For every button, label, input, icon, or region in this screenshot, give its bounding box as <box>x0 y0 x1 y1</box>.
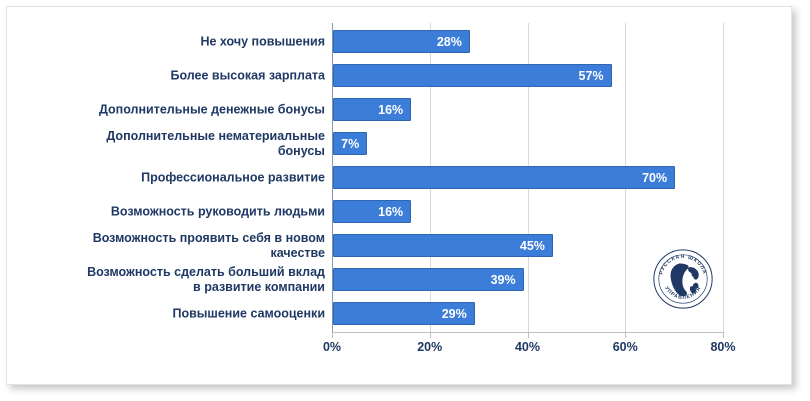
category-label: Более высокая зарплата <box>25 69 325 84</box>
category-label: Дополнительные денежные бонусы <box>25 103 325 118</box>
tick-mark <box>723 333 724 338</box>
category-label: Возможность сделать больший вклад в разв… <box>25 265 325 295</box>
bar[interactable]: 28% <box>333 30 470 53</box>
bar-row: Не хочу повышения28% <box>332 25 723 59</box>
bar-value-label: 16% <box>378 205 403 219</box>
bar[interactable]: 70% <box>333 166 675 189</box>
bar-row: Возможность руководить людьми16% <box>332 195 723 229</box>
bar[interactable]: 45% <box>333 234 553 257</box>
category-label: Профессиональное развитие <box>25 171 325 186</box>
bar-value-label: 7% <box>341 137 359 151</box>
russian-school-of-management-logo: РУССКАЯ ШКОЛА УПРАВЛЕНИЯ <box>652 248 714 310</box>
bar-value-label: 16% <box>378 103 403 117</box>
bar-row: Более высокая зарплата57% <box>332 59 723 93</box>
bar[interactable]: 16% <box>333 98 411 121</box>
category-label: Возможность проявить себя в новом качест… <box>25 231 325 261</box>
tick-mark <box>332 333 333 338</box>
x-axis-tick-label: 40% <box>515 340 540 354</box>
tick-mark <box>625 333 626 338</box>
category-label: Дополнительные нематериальные бонусы <box>25 129 325 159</box>
category-label: Возможность руководить людьми <box>25 205 325 220</box>
x-axis-tick-label: 20% <box>417 340 442 354</box>
x-axis-tick-label: 80% <box>710 340 735 354</box>
bar-value-label: 28% <box>437 35 462 49</box>
bar-value-label: 57% <box>579 69 604 83</box>
bar[interactable]: 57% <box>333 64 612 87</box>
bar-row: Профессиональное развитие70% <box>332 161 723 195</box>
bar-value-label: 45% <box>520 239 545 253</box>
bar[interactable]: 7% <box>333 132 367 155</box>
bar-row: Дополнительные нематериальные бонусы7% <box>332 127 723 161</box>
bar-value-label: 29% <box>442 307 467 321</box>
tick-mark <box>528 333 529 338</box>
chart-card: Не хочу повышения28%Более высокая зарпла… <box>6 6 792 385</box>
tick-mark <box>430 333 431 338</box>
bar[interactable]: 16% <box>333 200 411 223</box>
category-label: Повышение самооценки <box>25 307 325 322</box>
category-label: Не хочу повышения <box>25 35 325 50</box>
x-axis-tick-label: 0% <box>323 340 341 354</box>
gridline-80% <box>723 23 724 333</box>
bar[interactable]: 39% <box>333 268 524 291</box>
bar[interactable]: 29% <box>333 302 475 325</box>
bar-row: Дополнительные денежные бонусы16% <box>332 93 723 127</box>
bar-value-label: 39% <box>491 273 516 287</box>
x-axis-tick-label: 60% <box>613 340 638 354</box>
bar-value-label: 70% <box>642 171 667 185</box>
